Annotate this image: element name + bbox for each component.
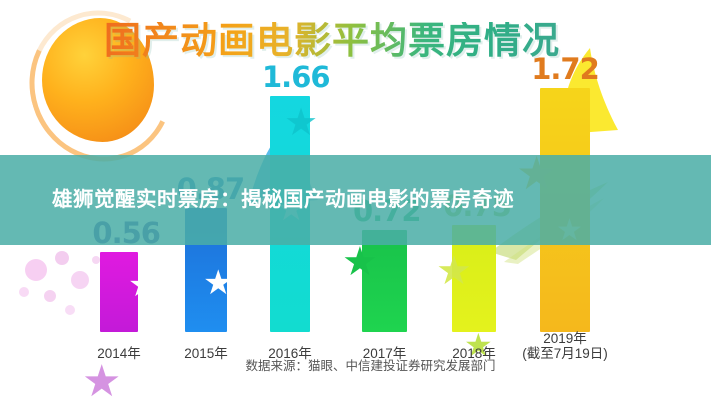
bar-2017年: ★★ — [362, 230, 407, 332]
bar-value-label: 1.72 — [530, 55, 600, 84]
source-note: 数据来源：猫眼、中信建投证券研究发展部门 — [0, 355, 711, 374]
infographic-canvas: 国产动画电影平均票房情况 国产动画电影平均票房情况 ★★0.562014年★0.… — [0, 0, 711, 400]
overlay-headline: 雄狮觉醒实时票房：揭秘国产动画电影的票房奇迹 — [0, 185, 560, 215]
bar-2014年: ★★ — [100, 252, 138, 332]
star-icon: ★ — [128, 268, 158, 302]
star-icon: ★ — [284, 104, 318, 142]
bar-value-label: 1.66 — [262, 63, 318, 92]
star-icon: ★ — [203, 266, 233, 300]
star-icon: ★ — [436, 251, 472, 291]
headline-overlay-band: 雄狮觉醒实时票房：揭秘国产动画电影的票房奇迹 — [0, 155, 711, 245]
star-icon: ★ — [342, 242, 378, 282]
